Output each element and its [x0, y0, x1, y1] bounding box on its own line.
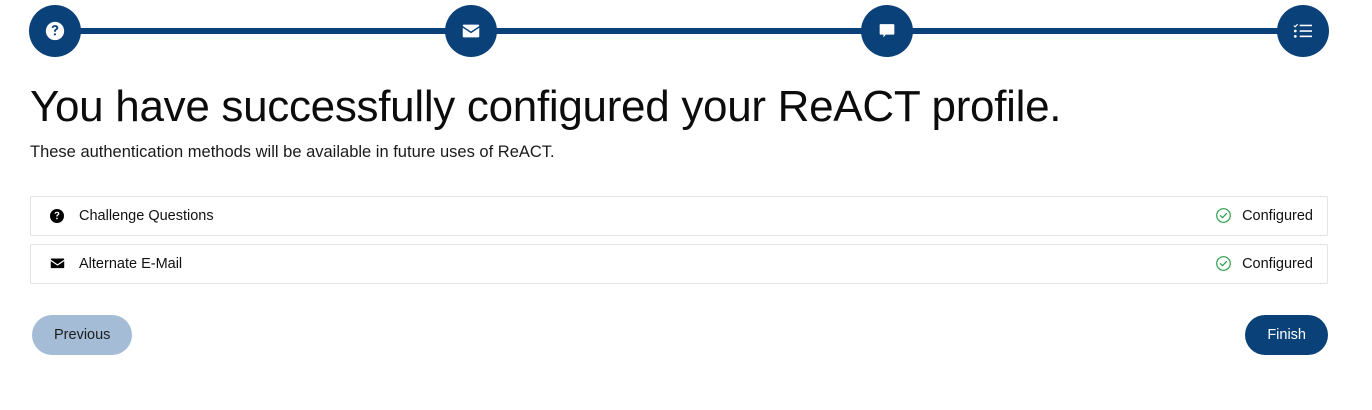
check-circle-icon: [1215, 207, 1232, 224]
envelope-icon: [460, 20, 482, 42]
progress-stepper: [0, 0, 1372, 62]
status-text: Configured: [1242, 208, 1313, 224]
method-row: Alternate E-Mail Configured: [30, 244, 1328, 284]
status-badge: Configured: [1215, 207, 1313, 224]
stepper-step-summary[interactable]: [1277, 5, 1329, 57]
previous-button[interactable]: Previous: [32, 315, 132, 355]
status-text: Configured: [1242, 256, 1313, 272]
stepper-step-sms-message[interactable]: [861, 5, 913, 57]
method-row: Challenge Questions Configured: [30, 196, 1328, 236]
method-label: Challenge Questions: [79, 208, 1215, 224]
checklist-icon: [1292, 20, 1314, 42]
question-circle-icon: [47, 208, 67, 224]
finish-button[interactable]: Finish: [1245, 315, 1328, 355]
stepper-connector-line: [55, 28, 1303, 34]
status-badge: Configured: [1215, 255, 1313, 272]
page-content: You have successfully configured your Re…: [0, 84, 1372, 357]
method-label: Alternate E-Mail: [79, 256, 1215, 272]
envelope-icon: [47, 255, 67, 272]
page-subtitle: These authentication methods will be ava…: [30, 142, 1342, 163]
chat-bubble-icon: [876, 20, 898, 42]
stepper-step-alternate-email[interactable]: [445, 5, 497, 57]
check-circle-icon: [1215, 255, 1232, 272]
wizard-footer: Previous Finish: [30, 315, 1328, 357]
page-title: You have successfully configured your Re…: [30, 84, 1342, 130]
stepper-step-challenge-questions[interactable]: [29, 5, 81, 57]
configured-methods-list: Challenge Questions Configured Alter: [30, 196, 1328, 284]
question-circle-icon: [44, 20, 66, 42]
